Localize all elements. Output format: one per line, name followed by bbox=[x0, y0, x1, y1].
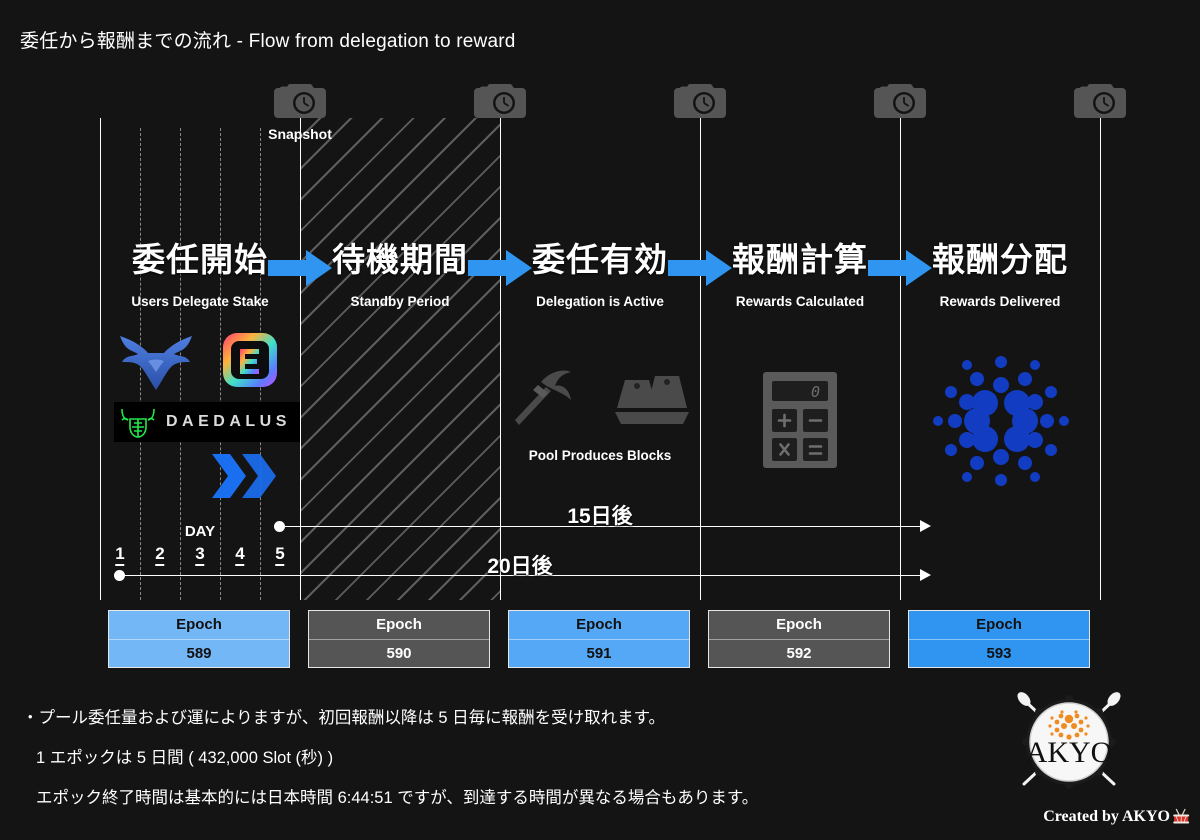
epoch-box-591[interactable]: Epoch 591 bbox=[508, 610, 690, 668]
vespr-wallet-icon bbox=[208, 450, 278, 515]
duration-label-20: 20日後 bbox=[487, 550, 552, 580]
camera-icon bbox=[872, 78, 928, 122]
note-line-1: ・プール委任量および運によりますが、初回報酬以降は 5 日毎に報酬を受け取れます… bbox=[22, 704, 665, 728]
epoch-box-589[interactable]: Epoch 589 bbox=[108, 610, 290, 668]
stage-title-en: Rewards Delivered bbox=[900, 294, 1100, 309]
epoch-word: Epoch bbox=[509, 611, 689, 640]
stage-title-en: Rewards Calculated bbox=[700, 294, 900, 309]
epoch-boundary-590-start bbox=[300, 118, 301, 600]
flow-arrow-icon bbox=[668, 248, 732, 288]
eternl-wallet-icon bbox=[222, 332, 278, 393]
epoch-number: 592 bbox=[709, 640, 889, 668]
flow-arrow-icon bbox=[268, 248, 332, 288]
camera-icon bbox=[472, 78, 528, 122]
daedalus-wallet-badge: DAEDALUS bbox=[114, 402, 300, 442]
camera-icon bbox=[672, 78, 728, 122]
drum-icon bbox=[1172, 808, 1190, 826]
day-number: 2 bbox=[155, 545, 164, 566]
flow-arrow-icon bbox=[468, 248, 532, 288]
epoch-boundary-593-end bbox=[1100, 118, 1101, 600]
epoch-word: Epoch bbox=[309, 611, 489, 640]
pool-produces-blocks-label: Pool Produces Blocks bbox=[529, 448, 672, 463]
note-line-2: 1 エポックは 5 日間 ( 432,000 Slot (秒) ) bbox=[36, 744, 333, 768]
epoch-number: 591 bbox=[509, 640, 689, 668]
day-number: 1 bbox=[115, 545, 124, 566]
cardano-logo-icon bbox=[925, 345, 1077, 502]
epoch-boundary-593-start bbox=[900, 118, 901, 600]
epoch-number: 590 bbox=[309, 640, 489, 668]
akyo-caption-text: Created by AKYO bbox=[1043, 808, 1170, 826]
epoch-word: Epoch bbox=[109, 611, 289, 640]
flow-arrow-icon bbox=[868, 248, 932, 288]
epoch-word: Epoch bbox=[909, 611, 1089, 640]
akyo-caption: Created by AKYO bbox=[1043, 808, 1190, 826]
camera-icon bbox=[1072, 78, 1128, 122]
diagram-canvas: 委任から報酬までの流れ - Flow from delegation to re… bbox=[0, 0, 1200, 840]
daedalus-wordmark: DAEDALUS bbox=[166, 413, 291, 431]
timeline-plot: Snapshot 委任開始 Users Delegate Stake 待機期間 … bbox=[0, 0, 1200, 690]
stage-title-en: Standby Period bbox=[300, 294, 500, 309]
note-line-3: エポック終了時間は基本的には日本時間 6:44:51 ですが、到達する時間が異な… bbox=[36, 784, 758, 808]
duration-arrowhead-20 bbox=[920, 569, 931, 581]
epoch-box-593[interactable]: Epoch 593 bbox=[908, 610, 1090, 668]
camera-icon bbox=[272, 78, 328, 122]
akyo-logo: AKYO bbox=[1010, 686, 1128, 798]
duration-arrowhead-15 bbox=[920, 520, 931, 532]
pickaxe-icon bbox=[505, 358, 581, 428]
stage-title-en: Delegation is Active bbox=[500, 294, 700, 309]
akyo-logo-text: AKYO bbox=[1026, 736, 1113, 769]
day-number: 3 bbox=[195, 545, 204, 566]
pool-block-icons-group bbox=[505, 358, 695, 428]
day-number: 4 bbox=[235, 545, 244, 566]
duration-label-15: 15日後 bbox=[567, 500, 632, 530]
epoch-number: 593 bbox=[909, 640, 1089, 668]
day-axis-label: DAY bbox=[185, 523, 215, 540]
epoch-boundary-592-start bbox=[700, 118, 701, 600]
wallet-logos-group: DAEDALUS bbox=[100, 332, 300, 512]
calculator-icon: 0 bbox=[763, 372, 837, 473]
day-number: 5 bbox=[275, 545, 284, 566]
epoch-box-592[interactable]: Epoch 592 bbox=[708, 610, 890, 668]
stage-title-en: Users Delegate Stake bbox=[100, 294, 300, 309]
snapshot-label: Snapshot bbox=[268, 126, 332, 142]
calculator-display: 0 bbox=[811, 383, 820, 401]
gold-blocks-icon bbox=[609, 362, 695, 432]
epoch-number: 589 bbox=[109, 640, 289, 668]
daedalus-bull-icon bbox=[118, 405, 158, 439]
standby-hatch-overlay bbox=[300, 118, 500, 600]
epoch-boundary-591-start bbox=[500, 118, 501, 600]
epoch-word: Epoch bbox=[709, 611, 889, 640]
yoroi-wallet-icon bbox=[118, 332, 194, 399]
epoch-box-590[interactable]: Epoch 590 bbox=[308, 610, 490, 668]
